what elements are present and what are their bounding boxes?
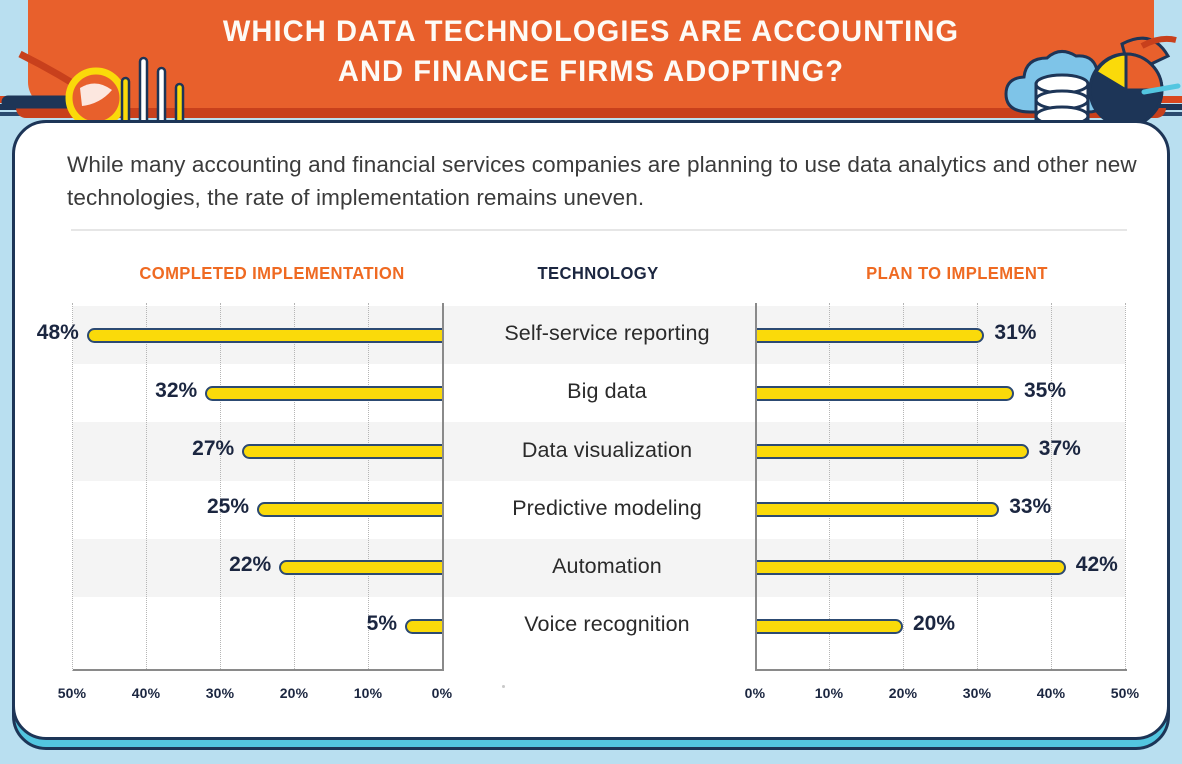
bar-plan bbox=[755, 502, 999, 517]
baseline-right bbox=[755, 669, 1127, 671]
axis-line-right bbox=[755, 303, 757, 671]
gridline bbox=[294, 303, 295, 671]
bar-value-plan: 42% bbox=[1076, 553, 1118, 577]
bar-completed bbox=[242, 444, 442, 459]
bar-value-plan: 33% bbox=[1009, 495, 1051, 519]
bar-value-plan: 31% bbox=[994, 321, 1036, 345]
bar-plan bbox=[755, 328, 984, 343]
gridline bbox=[829, 303, 830, 671]
decoration-left bbox=[0, 40, 230, 130]
chart-area: 48%32%27%25%22%5% 31%35%37%33%42%20% Sel… bbox=[15, 303, 1170, 733]
axis-tick-left: 20% bbox=[280, 685, 309, 701]
bar-value-plan: 37% bbox=[1039, 437, 1081, 461]
gridline bbox=[146, 303, 147, 671]
axis-tick-left: 50% bbox=[58, 685, 87, 701]
technology-label: Data visualization bbox=[447, 438, 767, 463]
column-header-plan: PLAN TO IMPLEMENT bbox=[773, 263, 1142, 284]
axis-tick-right: 50% bbox=[1111, 685, 1140, 701]
bar-value-completed: 48% bbox=[37, 321, 79, 345]
axis-tick-left: 40% bbox=[132, 685, 161, 701]
axis-tick-right: 40% bbox=[1037, 685, 1066, 701]
bar-value-completed: 25% bbox=[207, 495, 249, 519]
gridline bbox=[72, 303, 73, 671]
axis-tick-left: 10% bbox=[354, 685, 383, 701]
axis-tick-right: 10% bbox=[815, 685, 844, 701]
bar-completed bbox=[87, 328, 442, 343]
bar-completed bbox=[279, 560, 442, 575]
column-header-completed: COMPLETED IMPLEMENTATION bbox=[102, 263, 442, 284]
bar-plan bbox=[755, 619, 903, 634]
gridline bbox=[1125, 303, 1126, 671]
technology-label: Voice recognition bbox=[447, 612, 767, 637]
content-card: While many accounting and financial serv… bbox=[12, 120, 1170, 740]
axis-tick-left: 30% bbox=[206, 685, 235, 701]
column-header-technology: TECHNOLOGY bbox=[441, 263, 755, 284]
bar-value-completed: 5% bbox=[367, 612, 397, 636]
intro-text: While many accounting and financial serv… bbox=[67, 149, 1137, 214]
gridline bbox=[903, 303, 904, 671]
bar-value-completed: 27% bbox=[192, 437, 234, 461]
technology-label: Big data bbox=[447, 379, 767, 404]
gridline bbox=[220, 303, 221, 671]
bar-completed bbox=[205, 386, 442, 401]
bar-value-plan: 35% bbox=[1024, 379, 1066, 403]
axis-ticks: 50%40%30%20%10%0%0%10%20%30%40%50% bbox=[15, 685, 1170, 709]
bar-value-plan: 20% bbox=[913, 612, 955, 636]
baseline-left bbox=[73, 669, 443, 671]
bar-value-completed: 32% bbox=[155, 379, 197, 403]
axis-tick-right: 20% bbox=[889, 685, 918, 701]
bar-value-completed: 22% bbox=[229, 553, 271, 577]
bar-plan bbox=[755, 560, 1066, 575]
axis-tick-right: 0% bbox=[745, 685, 766, 701]
pie-chart-icon bbox=[1090, 38, 1178, 126]
axis-tick-right: 30% bbox=[963, 685, 992, 701]
technology-label: Self-service reporting bbox=[447, 321, 767, 346]
axis-tick-left: 0% bbox=[432, 685, 453, 701]
bar-completed bbox=[257, 502, 442, 517]
magnifier-icon bbox=[8, 54, 123, 125]
speck-mark bbox=[502, 685, 505, 688]
technology-label: Predictive modeling bbox=[447, 496, 767, 521]
decoration-right bbox=[992, 34, 1182, 134]
divider bbox=[71, 229, 1127, 231]
gridline bbox=[1051, 303, 1052, 671]
bar-chart-icon bbox=[122, 58, 183, 126]
bar-completed bbox=[405, 619, 442, 634]
axis-line-left bbox=[442, 303, 444, 671]
bar-plan bbox=[755, 386, 1014, 401]
technology-label: Automation bbox=[447, 554, 767, 579]
bar-plan bbox=[755, 444, 1029, 459]
gridline bbox=[977, 303, 978, 671]
